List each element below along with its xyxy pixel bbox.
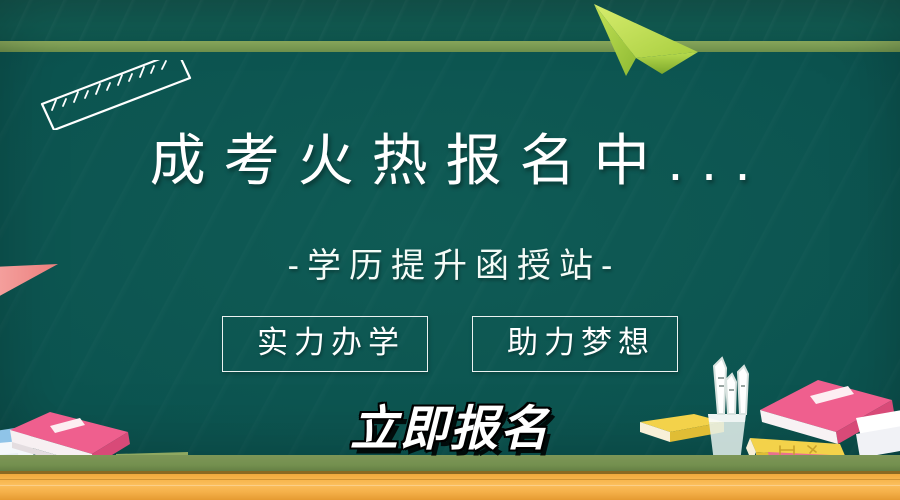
chalkboard-top-strip bbox=[0, 0, 900, 42]
page-title: 成考火热报名中... bbox=[0, 126, 900, 196]
promo-poster: 成考火热报名中... -学历提升函授站- 实力办学 助力梦想 立即报名 bbox=[0, 0, 900, 500]
board-wooden-ledge bbox=[0, 474, 900, 500]
slogan-row: 实力办学 助力梦想 bbox=[0, 316, 900, 372]
register-now-button[interactable]: 立即报名 bbox=[0, 400, 900, 460]
chalkboard-olive-band bbox=[0, 41, 900, 52]
page-subtitle: -学历提升函授站- bbox=[0, 244, 900, 288]
slogan-box-2: 助力梦想 bbox=[472, 316, 678, 372]
slogan-box-1: 实力办学 bbox=[222, 316, 428, 372]
chalk-streaks-top bbox=[0, 0, 900, 42]
